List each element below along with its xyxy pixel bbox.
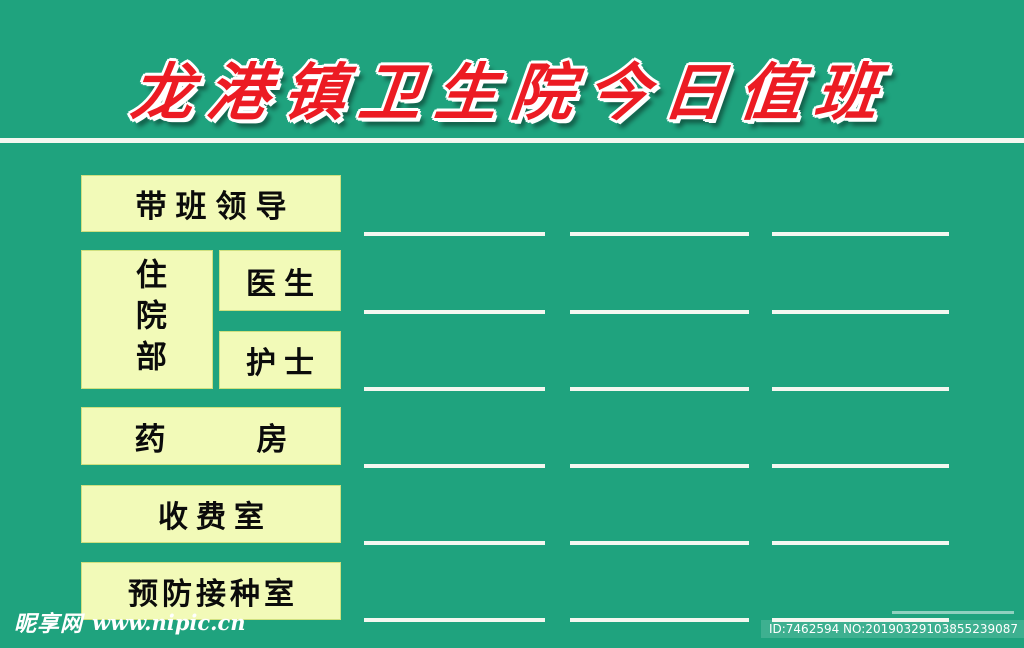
label-text-inpatient-dept: 住院部 — [127, 258, 167, 381]
label-text-pharmacy: 药 房 — [105, 414, 318, 459]
write-line-r5c1[interactable] — [364, 541, 545, 545]
write-line-r1c3[interactable] — [772, 232, 949, 236]
watermark: 昵享网 www.nipic.cn — [14, 606, 246, 638]
write-line-r3c1[interactable] — [364, 387, 545, 391]
image-id-strip: ID:7462594 NO:20190329103855239087 — [761, 620, 1024, 638]
watermark-url: www.nipic.cn — [92, 610, 246, 635]
write-line-r1c1[interactable] — [364, 232, 545, 236]
write-line-r6c1[interactable] — [364, 618, 545, 622]
write-line-r1c2[interactable] — [570, 232, 749, 236]
write-line-r6c2[interactable] — [570, 618, 749, 622]
label-box-cashier: 收费室 — [81, 485, 341, 543]
header-divider — [0, 138, 1024, 143]
id-strip-accent — [892, 611, 1014, 614]
label-box-lead-leader: 带班领导 — [81, 175, 341, 232]
page-title: 龙港镇卫生院今日值班 — [127, 42, 896, 132]
write-line-r3c3[interactable] — [772, 387, 949, 391]
label-text-nurse: 护士 — [238, 338, 322, 382]
write-line-r5c2[interactable] — [570, 541, 749, 545]
label-text-lead-leader: 带班领导 — [127, 181, 296, 226]
label-box-pharmacy: 药 房 — [81, 407, 341, 465]
write-line-r2c2[interactable] — [570, 310, 749, 314]
write-line-r5c3[interactable] — [772, 541, 949, 545]
write-line-r4c3[interactable] — [772, 464, 949, 468]
nipic-logo: 昵享网 — [14, 606, 83, 638]
label-text-cashier: 收费室 — [150, 492, 272, 536]
label-box-doctor: 医生 — [219, 250, 341, 311]
write-line-r4c2[interactable] — [570, 464, 749, 468]
write-line-r3c2[interactable] — [570, 387, 749, 391]
write-line-r4c1[interactable] — [364, 464, 545, 468]
label-text-doctor: 医生 — [238, 259, 322, 303]
write-line-r2c1[interactable] — [364, 310, 545, 314]
label-box-inpatient-dept: 住院部 — [81, 250, 213, 389]
write-line-r2c3[interactable] — [772, 310, 949, 314]
label-box-nurse: 护士 — [219, 331, 341, 389]
board-title-area: 龙港镇卫生院今日值班 — [0, 48, 1024, 126]
duty-roster-board: 龙港镇卫生院今日值班 带班领导 住院部 医生 护士 药 房 收费室 预防接种室 — [0, 0, 1024, 648]
